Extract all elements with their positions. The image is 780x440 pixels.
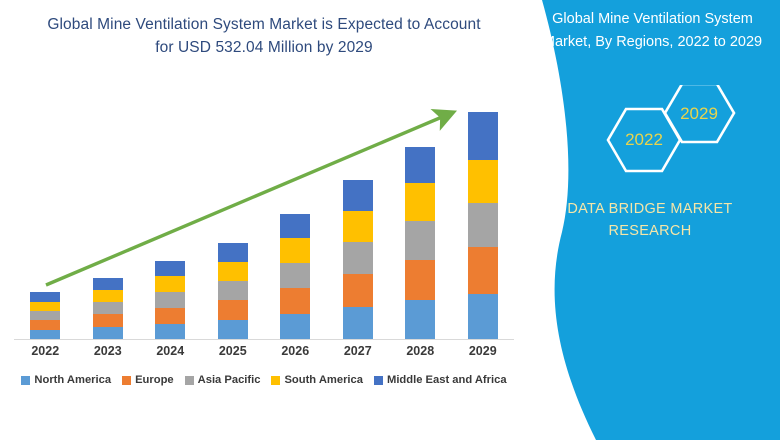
legend-swatch-icon bbox=[271, 376, 280, 385]
legend-label: South America bbox=[284, 374, 363, 386]
legend-label: North America bbox=[34, 374, 111, 386]
hexagon-2029-label: 2022 bbox=[625, 130, 663, 149]
bar-stack bbox=[218, 243, 248, 340]
legend-label: Asia Pacific bbox=[198, 374, 261, 386]
panel-title-line1: Global Mine Ventilation System bbox=[530, 8, 775, 31]
bar-segment[interactable] bbox=[468, 112, 498, 160]
bar-segment[interactable] bbox=[343, 307, 373, 340]
legend-item-south-america[interactable]: South America bbox=[271, 374, 363, 386]
x-axis-tick-2023: 2023 bbox=[78, 344, 138, 358]
bar-group bbox=[14, 95, 514, 340]
bar-segment[interactable] bbox=[93, 290, 123, 302]
bar-segment[interactable] bbox=[218, 320, 248, 340]
bar-segment[interactable] bbox=[93, 278, 123, 290]
bar-segment[interactable] bbox=[280, 314, 310, 340]
x-axis-tick-2028: 2028 bbox=[390, 344, 450, 358]
bar-stack bbox=[405, 147, 435, 340]
bar-column-2027[interactable] bbox=[328, 180, 388, 340]
page-title-line1: Global Mine Ventilation System Market is… bbox=[34, 13, 494, 36]
bar-segment[interactable] bbox=[30, 302, 60, 311]
bar-segment[interactable] bbox=[280, 214, 310, 238]
bar-segment[interactable] bbox=[30, 320, 60, 330]
bar-segment[interactable] bbox=[343, 242, 373, 274]
x-axis-labels: 20222023202420252026202720282029 bbox=[14, 344, 514, 364]
chart-plot-area bbox=[14, 95, 514, 340]
bar-stack bbox=[93, 278, 123, 340]
bar-segment[interactable] bbox=[155, 276, 185, 292]
legend-item-europe[interactable]: Europe bbox=[122, 374, 174, 386]
bar-segment[interactable] bbox=[405, 183, 435, 221]
bar-segment[interactable] bbox=[218, 300, 248, 320]
brand-panel: Global Mine Ventilation System Market, B… bbox=[500, 0, 780, 440]
legend-item-middle-east-and-africa[interactable]: Middle East and Africa bbox=[374, 374, 507, 386]
bar-stack bbox=[468, 112, 498, 340]
legend-label: Middle East and Africa bbox=[387, 374, 507, 386]
bar-segment[interactable] bbox=[155, 261, 185, 276]
bar-column-2024[interactable] bbox=[140, 261, 200, 340]
bar-segment[interactable] bbox=[468, 294, 498, 340]
bar-column-2025[interactable] bbox=[203, 243, 263, 340]
bar-column-2028[interactable] bbox=[390, 147, 450, 340]
legend-swatch-icon bbox=[185, 376, 194, 385]
bar-segment[interactable] bbox=[280, 238, 310, 263]
legend-swatch-icon bbox=[122, 376, 131, 385]
brand-line2: RESEARCH bbox=[525, 220, 775, 242]
bar-segment[interactable] bbox=[93, 302, 123, 314]
bar-stack bbox=[155, 261, 185, 340]
legend-item-north-america[interactable]: North America bbox=[21, 374, 111, 386]
bar-segment[interactable] bbox=[468, 160, 498, 203]
bar-stack bbox=[343, 180, 373, 340]
brand-line1: DATA BRIDGE MARKET bbox=[525, 198, 775, 220]
legend-swatch-icon bbox=[374, 376, 383, 385]
bar-segment[interactable] bbox=[343, 180, 373, 211]
x-axis-tick-2026: 2026 bbox=[265, 344, 325, 358]
panel-title-line2: Market, By Regions, 2022 to 2029 bbox=[530, 31, 775, 54]
bar-segment[interactable] bbox=[405, 300, 435, 340]
x-axis-tick-2025: 2025 bbox=[203, 344, 263, 358]
bar-column-2022[interactable] bbox=[15, 292, 75, 340]
bar-column-2023[interactable] bbox=[78, 278, 138, 340]
panel-content: Global Mine Ventilation System Market, B… bbox=[500, 0, 780, 440]
bar-segment[interactable] bbox=[93, 314, 123, 327]
page-title: Global Mine Ventilation System Market is… bbox=[34, 13, 494, 59]
bar-segment[interactable] bbox=[218, 243, 248, 262]
bar-segment[interactable] bbox=[30, 311, 60, 320]
bar-segment[interactable] bbox=[155, 292, 185, 308]
bar-segment[interactable] bbox=[343, 211, 373, 242]
bar-segment[interactable] bbox=[405, 260, 435, 300]
bar-stack bbox=[30, 292, 60, 340]
x-axis-tick-2027: 2027 bbox=[328, 344, 388, 358]
bar-segment[interactable] bbox=[218, 262, 248, 281]
bar-segment[interactable] bbox=[468, 247, 498, 294]
bar-column-2026[interactable] bbox=[265, 214, 325, 340]
hexagon-svg: 2022 2029 bbox=[500, 85, 780, 190]
bar-segment[interactable] bbox=[343, 274, 373, 307]
panel-title: Global Mine Ventilation System Market, B… bbox=[530, 8, 775, 54]
brand-name: DATA BRIDGE MARKET RESEARCH bbox=[525, 198, 775, 242]
bar-segment[interactable] bbox=[280, 263, 310, 288]
bar-segment[interactable] bbox=[468, 203, 498, 247]
bar-segment[interactable] bbox=[405, 147, 435, 183]
page-title-line2: for USD 532.04 Million by 2029 bbox=[34, 36, 494, 59]
bar-segment[interactable] bbox=[280, 288, 310, 314]
bar-segment[interactable] bbox=[30, 292, 60, 302]
bar-segment[interactable] bbox=[218, 281, 248, 300]
legend-item-asia-pacific[interactable]: Asia Pacific bbox=[185, 374, 261, 386]
x-axis-line bbox=[14, 339, 514, 340]
bar-segment[interactable] bbox=[155, 308, 185, 324]
legend-swatch-icon bbox=[21, 376, 30, 385]
legend-label: Europe bbox=[135, 374, 174, 386]
bar-segment[interactable] bbox=[405, 221, 435, 260]
bar-stack bbox=[280, 214, 310, 340]
hexagon-badges: 2022 2029 bbox=[500, 85, 780, 190]
hexagon-2022-label: 2029 bbox=[680, 104, 718, 123]
x-axis-tick-2024: 2024 bbox=[140, 344, 200, 358]
bar-segment[interactable] bbox=[155, 324, 185, 340]
chart-legend: North AmericaEuropeAsia PacificSouth Ame… bbox=[14, 374, 514, 386]
x-axis-tick-2022: 2022 bbox=[15, 344, 75, 358]
infographic-root: Global Mine Ventilation System Market is… bbox=[0, 0, 780, 440]
